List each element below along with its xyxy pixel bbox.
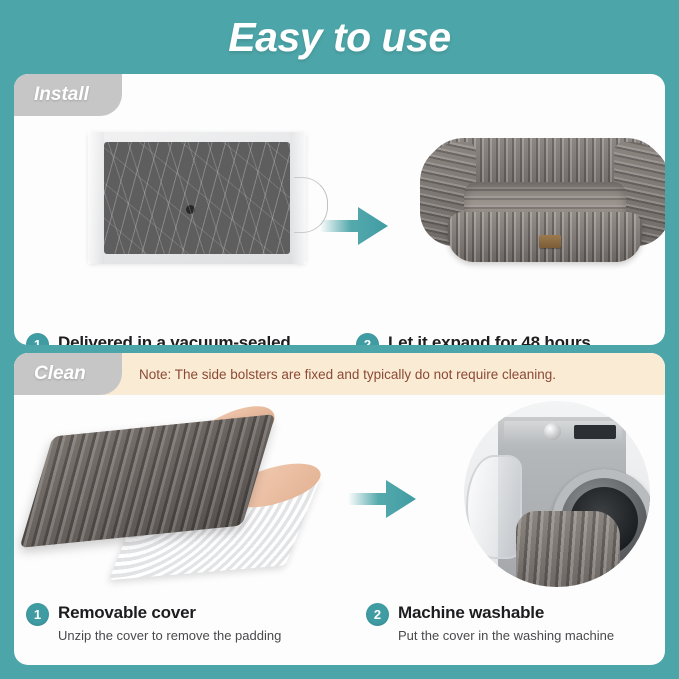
infographic-page: Easy to use Install — [0, 0, 679, 679]
recycle-symbol-icon — [186, 205, 195, 214]
step-number-badge: 2 — [356, 333, 379, 345]
page-title: Easy to use — [228, 14, 450, 61]
section-tab-label: Install — [34, 84, 89, 106]
section-tab-clean: Clean — [14, 353, 122, 395]
dog-bed-illustration — [420, 130, 665, 270]
washer-control-panel — [504, 421, 622, 443]
arrow-right-icon — [306, 118, 402, 333]
washing-machine-image — [430, 399, 665, 599]
install-section-card: Install — [14, 74, 665, 345]
clean-steps: 1 Removable cover Unzip the cover to rem… — [14, 602, 665, 645]
section-tab-install: Install — [14, 74, 122, 116]
header: Easy to use — [0, 0, 679, 74]
step-subtitle: Unzip the cover to remove the padding — [58, 628, 354, 645]
cover-removal-illustration — [34, 409, 314, 579]
vacuum-sealed-package-image — [14, 118, 306, 333]
step-title: Let it expand for 48 hours — [388, 332, 591, 345]
step-clean-1: 1 Removable cover Unzip the cover to rem… — [14, 602, 354, 645]
step-title: Delivered in a vacuum-sealed package — [58, 332, 344, 345]
cover-in-washer — [516, 511, 620, 587]
install-image-row — [14, 118, 665, 333]
brand-leather-tag — [539, 235, 561, 248]
removable-cover-image — [14, 399, 334, 599]
arrow-right-glyph — [320, 204, 388, 248]
washer-dial-knob — [544, 423, 561, 440]
compressed-bed — [104, 142, 290, 254]
step-title: Machine washable — [398, 602, 544, 623]
washer-illustration — [464, 401, 650, 587]
arrow-right-glyph — [348, 477, 416, 521]
step-subtitle: Put the cover in the washing machine — [398, 628, 665, 645]
clean-banner-note: Note: The side bolsters are fixed and ty… — [139, 367, 556, 382]
arrow-right-icon — [334, 399, 430, 599]
step-title: Removable cover — [58, 602, 196, 623]
section-tab-label: Clean — [34, 363, 86, 385]
step-number-badge: 2 — [366, 603, 389, 626]
step-install-2: 2 Let it expand for 48 hours Note: Surfa… — [344, 332, 665, 345]
clean-section-card: Note: The side bolsters are fixed and ty… — [14, 353, 665, 665]
washer-display — [574, 425, 616, 439]
step-install-1: 1 Delivered in a vacuum-sealed package — [14, 332, 344, 345]
vacuum-pack-illustration — [88, 132, 306, 264]
expanded-dog-bed-image — [402, 118, 665, 333]
clean-image-row — [14, 399, 665, 599]
bag-seal-left — [88, 132, 104, 264]
step-clean-2: 2 Machine washable Put the cover in the … — [354, 602, 665, 645]
step-number-badge: 1 — [26, 333, 49, 345]
washer-open-door-glass — [466, 455, 522, 559]
install-steps: 1 Delivered in a vacuum-sealed package 2… — [14, 332, 665, 345]
bed-front-bolster — [448, 212, 642, 262]
step-number-badge: 1 — [26, 603, 49, 626]
